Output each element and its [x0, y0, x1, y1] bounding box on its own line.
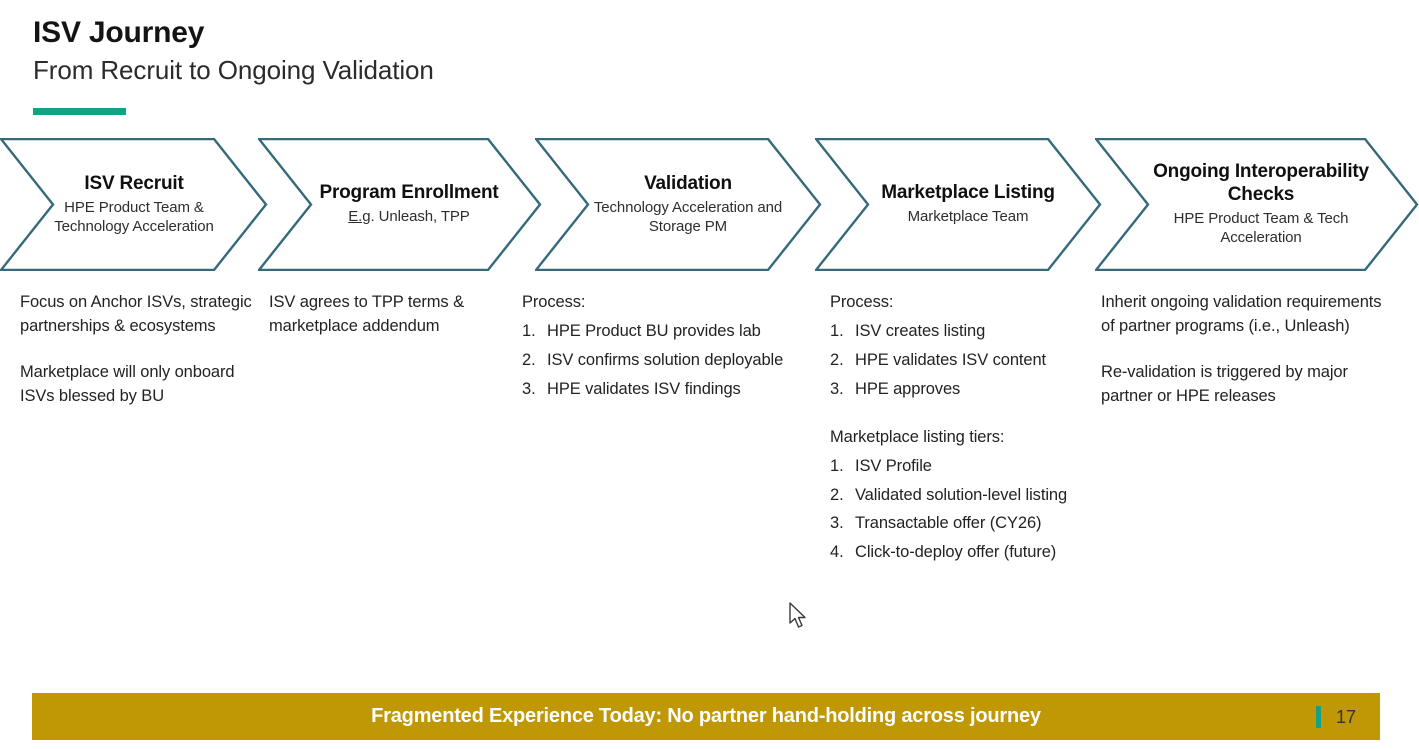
- detail-step-list: HPE Product BU provides lab ISV confirms…: [522, 320, 822, 402]
- stage-chevron-program-enrollment[interactable]: [258, 138, 542, 271]
- stage-chevron-isv-recruit[interactable]: [0, 138, 268, 271]
- stage-chevron-ongoing-interoperability-checks[interactable]: [1095, 138, 1419, 271]
- detail-step-list: ISV creates listing HPE validates ISV co…: [830, 320, 1112, 402]
- stage-detail-column-ongoing-interoperability-checks: Inherit ongoing validation requirements …: [1101, 291, 1386, 409]
- detail-step-list-secondary: ISV Profile Validated solution-level lis…: [830, 455, 1112, 566]
- stage-detail-column-marketplace-listing: Process: ISV creates listing HPE validat…: [830, 291, 1112, 565]
- page-subtitle: From Recruit to Ongoing Validation: [33, 55, 933, 86]
- detail-lead-secondary: Marketplace listing tiers:: [830, 426, 1112, 450]
- spacer: [830, 402, 1112, 426]
- footer-banner-text: Fragmented Experience Today: No partner …: [371, 705, 1041, 728]
- stage-detail-column-program-enrollment: ISV agrees to TPP terms & marketplace ad…: [269, 291, 505, 339]
- detail-paragraph: ISV agrees to TPP terms & marketplace ad…: [269, 291, 505, 339]
- detail-paragraph: Inherit ongoing validation requirements …: [1101, 291, 1386, 339]
- list-item: HPE validates ISV findings: [522, 378, 822, 402]
- mouse-cursor: [788, 602, 808, 630]
- list-item: Click-to-deploy offer (future): [830, 541, 1112, 565]
- list-item: ISV creates listing: [830, 320, 1112, 344]
- stage-detail-column-validation: Process: HPE Product BU provides lab ISV…: [522, 291, 822, 402]
- stage-chevron-validation[interactable]: [535, 138, 822, 271]
- detail-paragraph: Marketplace will only onboard ISVs bless…: [20, 361, 252, 409]
- list-item: Validated solution-level listing: [830, 484, 1112, 508]
- stage-detail-column-isv-recruit: Focus on Anchor ISVs, strategic partners…: [20, 291, 252, 409]
- detail-paragraph: Focus on Anchor ISVs, strategic partners…: [20, 291, 252, 339]
- list-item: Transactable offer (CY26): [830, 512, 1112, 536]
- list-item: ISV confirms solution deployable: [522, 349, 822, 373]
- footer-banner: Fragmented Experience Today: No partner …: [32, 693, 1380, 740]
- page-number: 17: [1336, 707, 1356, 728]
- slide-header: ISV Journey From Recruit to Ongoing Vali…: [33, 16, 933, 86]
- page-title: ISV Journey: [33, 16, 933, 51]
- stage-chevron-marketplace-listing[interactable]: [815, 138, 1102, 271]
- green-accent-bar: [33, 108, 126, 115]
- list-item: HPE validates ISV content: [830, 349, 1112, 373]
- list-item: HPE Product BU provides lab: [522, 320, 822, 344]
- list-item: HPE approves: [830, 378, 1112, 402]
- detail-paragraph: Re-validation is triggered by major part…: [1101, 361, 1386, 409]
- page-number-marker: [1316, 706, 1321, 728]
- detail-lead: Process:: [522, 291, 822, 315]
- journey-stage-band: ISV Recruit HPE Product Team & Technolog…: [0, 138, 1419, 271]
- list-item: ISV Profile: [830, 455, 1112, 479]
- detail-lead: Process:: [830, 291, 1112, 315]
